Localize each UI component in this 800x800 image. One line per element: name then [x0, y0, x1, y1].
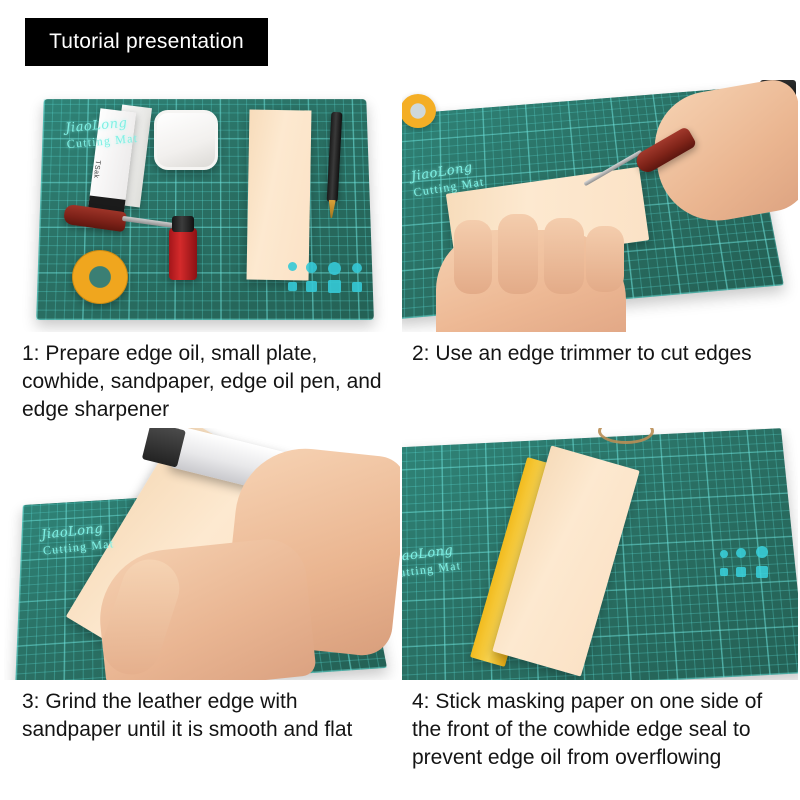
- step-4-photo: iaoLong utting Mat: [402, 428, 798, 680]
- step-4-caption: 4: Stick masking paper on one side of th…: [402, 680, 798, 772]
- step-1-photo: JiaoLong Cutting Mat TSak: [4, 80, 400, 332]
- step-card-4: iaoLong utting Mat 4: Stick masking pape…: [402, 428, 798, 772]
- left-hand: [436, 230, 626, 332]
- mat-shape-markers: [286, 262, 362, 296]
- edge-oil-bottle: [169, 228, 197, 280]
- step-card-3: JiaoLong Cutting Mat 研磨 3: Grind the lea…: [4, 428, 400, 744]
- step-1-caption: 1: Prepare edge oil, small plate, cowhid…: [4, 332, 400, 424]
- mat-shape-markers: [720, 546, 780, 586]
- sandpaper-box-label: TSak: [92, 160, 101, 179]
- masking-tape-roll: [72, 250, 128, 304]
- step-2-caption: 2: Use an edge trimmer to cut edges: [402, 332, 798, 368]
- step-card-2: JiaoLong Cutting Mat 2: Use an edge trim…: [402, 80, 798, 368]
- tutorial-page: Tutorial presentation JiaoLong Cutting M…: [0, 0, 800, 800]
- page-title: Tutorial presentation: [49, 30, 244, 54]
- title-banner: Tutorial presentation: [25, 18, 268, 66]
- step-3-photo: JiaoLong Cutting Mat 研磨: [4, 428, 400, 680]
- step-3-caption: 3: Grind the leather edge with sandpaper…: [4, 680, 400, 744]
- small-plate: [154, 110, 218, 170]
- cowhide-strip: [247, 109, 312, 280]
- step-2-photo: JiaoLong Cutting Mat: [402, 80, 798, 332]
- steps-grid: JiaoLong Cutting Mat TSak: [0, 80, 800, 800]
- step-card-1: JiaoLong Cutting Mat TSak: [4, 80, 400, 424]
